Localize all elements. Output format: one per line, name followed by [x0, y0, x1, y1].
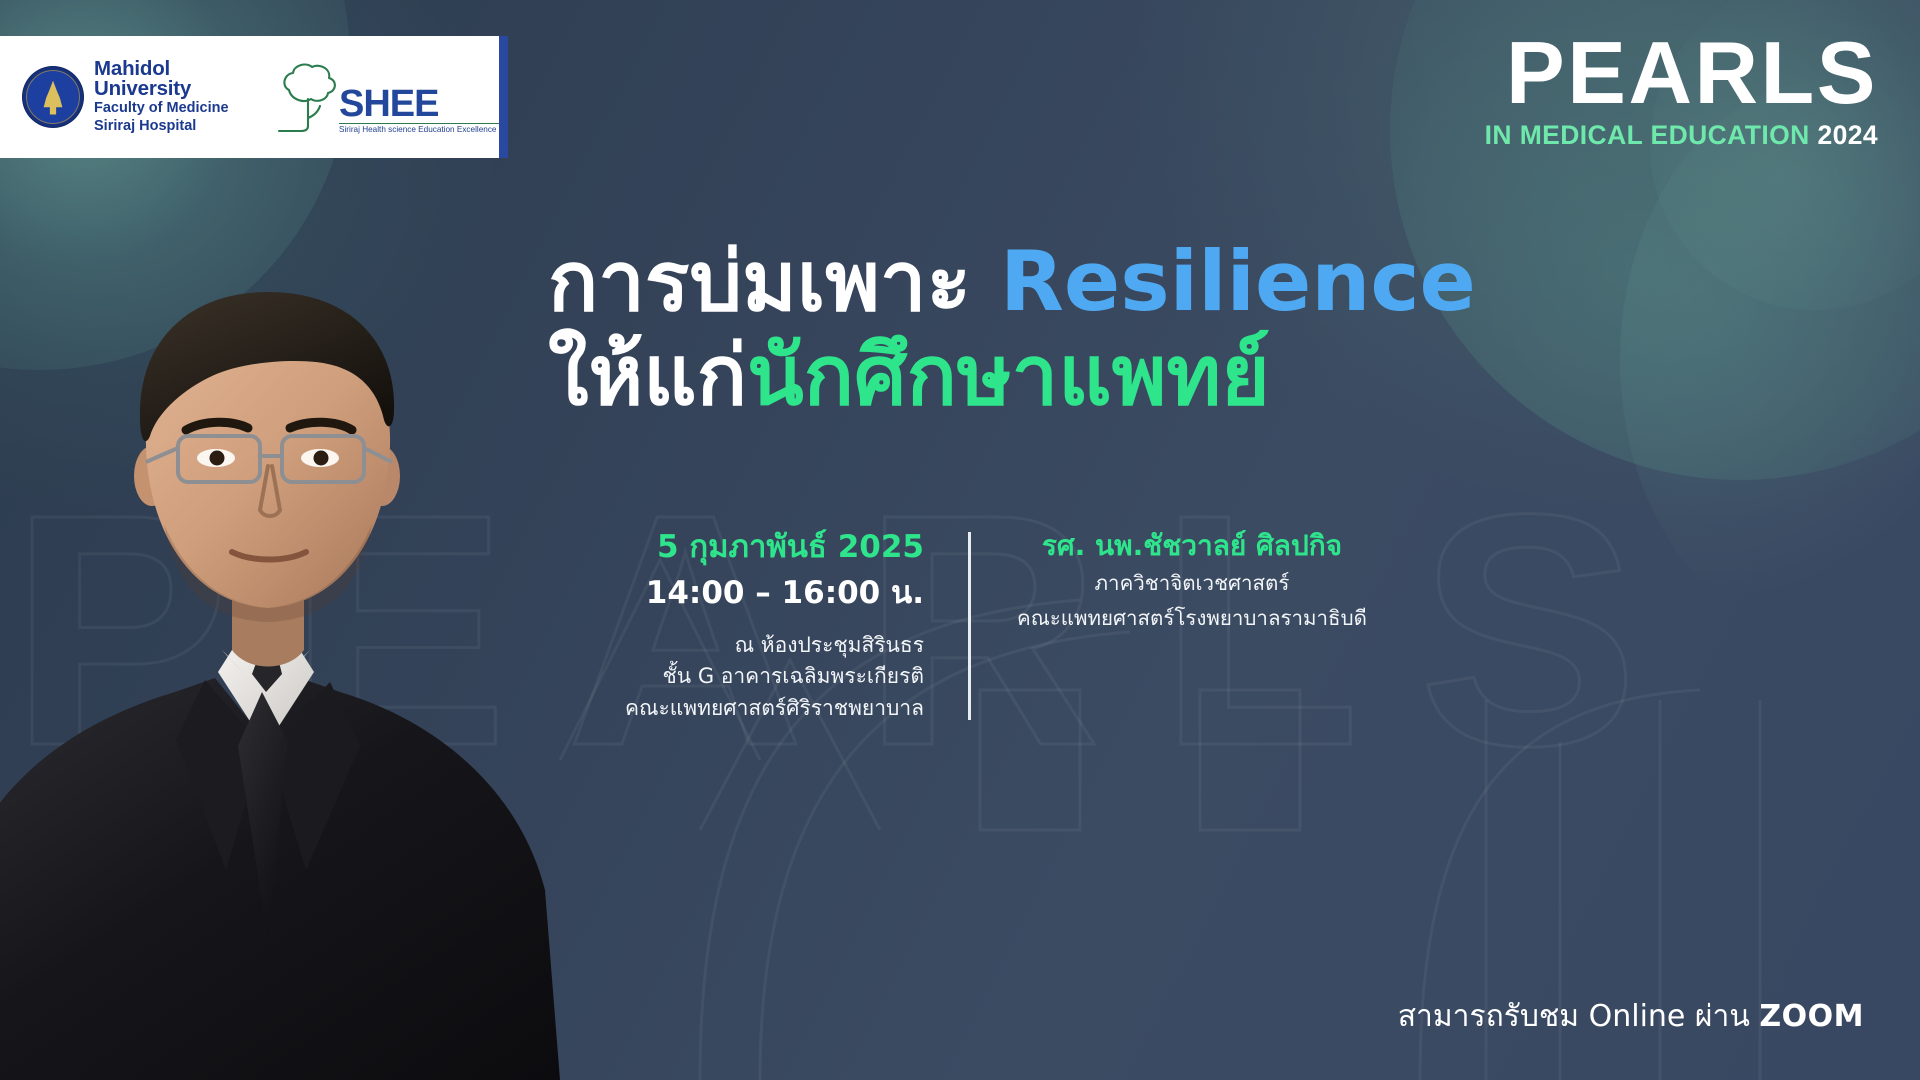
mahidol-name: Mahidol University: [94, 59, 245, 100]
institution-logo-bar: Mahidol University Faculty of Medicine S…: [0, 36, 508, 158]
arc-accent-right: [1620, 80, 1920, 640]
headline-line-2-prefix: ให้แก่: [548, 327, 747, 424]
mahidol-hospital: Siriraj Hospital: [94, 118, 245, 136]
mahidol-logo: Mahidol University Faculty of Medicine S…: [0, 59, 245, 135]
zoom-platform-label: ZOOM: [1759, 999, 1864, 1034]
shee-logo: SHEE Siriraj Health science Education Ex…: [275, 60, 499, 134]
event-time: 14:00 – 16:00 น.: [548, 573, 924, 614]
series-year: 2024: [1817, 120, 1878, 150]
mahidol-faculty: Faculty of Medicine: [94, 100, 245, 118]
series-title: PEARLS: [1485, 30, 1878, 116]
poster-canvas: PEARLS Mahidol University Faculty of Med…: [0, 0, 1920, 1080]
speaker-photo: [0, 180, 640, 1080]
headline-line-2-highlight: นักศึกษาแพทย์: [747, 327, 1270, 424]
speaker-name: รศ. นพ.ชัชวาลย์ ศิลปกิจ: [1017, 528, 1367, 564]
mahidol-logo-text: Mahidol University Faculty of Medicine S…: [94, 59, 245, 135]
shee-acronym: SHEE: [339, 87, 499, 122]
speaker-info: รศ. นพ.ชัชวาลย์ ศิลปกิจ ภาควิชาจิตเวชศาส…: [971, 528, 1367, 634]
headline-line-1-thai: การบ่มเพาะ: [548, 233, 1000, 330]
series-title-block: PEARLS IN MEDICAL EDUCATION 2024: [1485, 30, 1878, 151]
headline-line-1-en: Resilience: [1000, 233, 1476, 330]
event-headline: การบ่มเพาะ Resilience ให้แก่นักศึกษาแพทย…: [548, 238, 1476, 420]
online-viewing-note: สามารถรับชม Online ผ่าน ZOOM: [1398, 993, 1864, 1040]
event-date: 5 กุมภาพันธ์ 2025: [548, 528, 924, 568]
speaker-institution: คณะแพทยศาสตร์โรงพยาบาลรามาธิบดี: [1017, 603, 1367, 634]
speaker-department: ภาควิชาจิตเวชศาสตร์: [1017, 568, 1367, 599]
shee-text-group: SHEE Siriraj Health science Education Ex…: [339, 87, 499, 134]
tree-icon: [275, 60, 343, 134]
series-subtitle: IN MEDICAL EDUCATION 2024: [1485, 120, 1878, 151]
shee-tagline: Siriraj Health science Education Excelle…: [339, 123, 499, 135]
venue-line-3: คณะแพทยศาสตร์ศิริราชพยาบาล: [548, 693, 924, 725]
event-details: 5 กุมภาพันธ์ 2025 14:00 – 16:00 น. ณ ห้อ…: [548, 528, 1418, 738]
series-subtitle-text: IN MEDICAL EDUCATION: [1485, 120, 1810, 150]
venue-line-2: ชั้น G อาคารเฉลิมพระเกียรติ: [548, 661, 924, 693]
event-venue: ณ ห้องประชุมสิรินธร ชั้น G อาคารเฉลิมพระ…: [548, 630, 924, 726]
online-note-prefix: สามารถรับชม Online ผ่าน: [1398, 999, 1760, 1034]
event-datetime-venue: 5 กุมภาพันธ์ 2025 14:00 – 16:00 น. ณ ห้อ…: [548, 528, 968, 725]
venue-line-1: ณ ห้องประชุมสิรินธร: [548, 630, 924, 662]
headline-line-2: ให้แก่นักศึกษาแพทย์: [548, 332, 1476, 420]
mahidol-seal-icon: [22, 66, 84, 128]
headline-line-1: การบ่มเพาะ Resilience: [548, 238, 1476, 326]
